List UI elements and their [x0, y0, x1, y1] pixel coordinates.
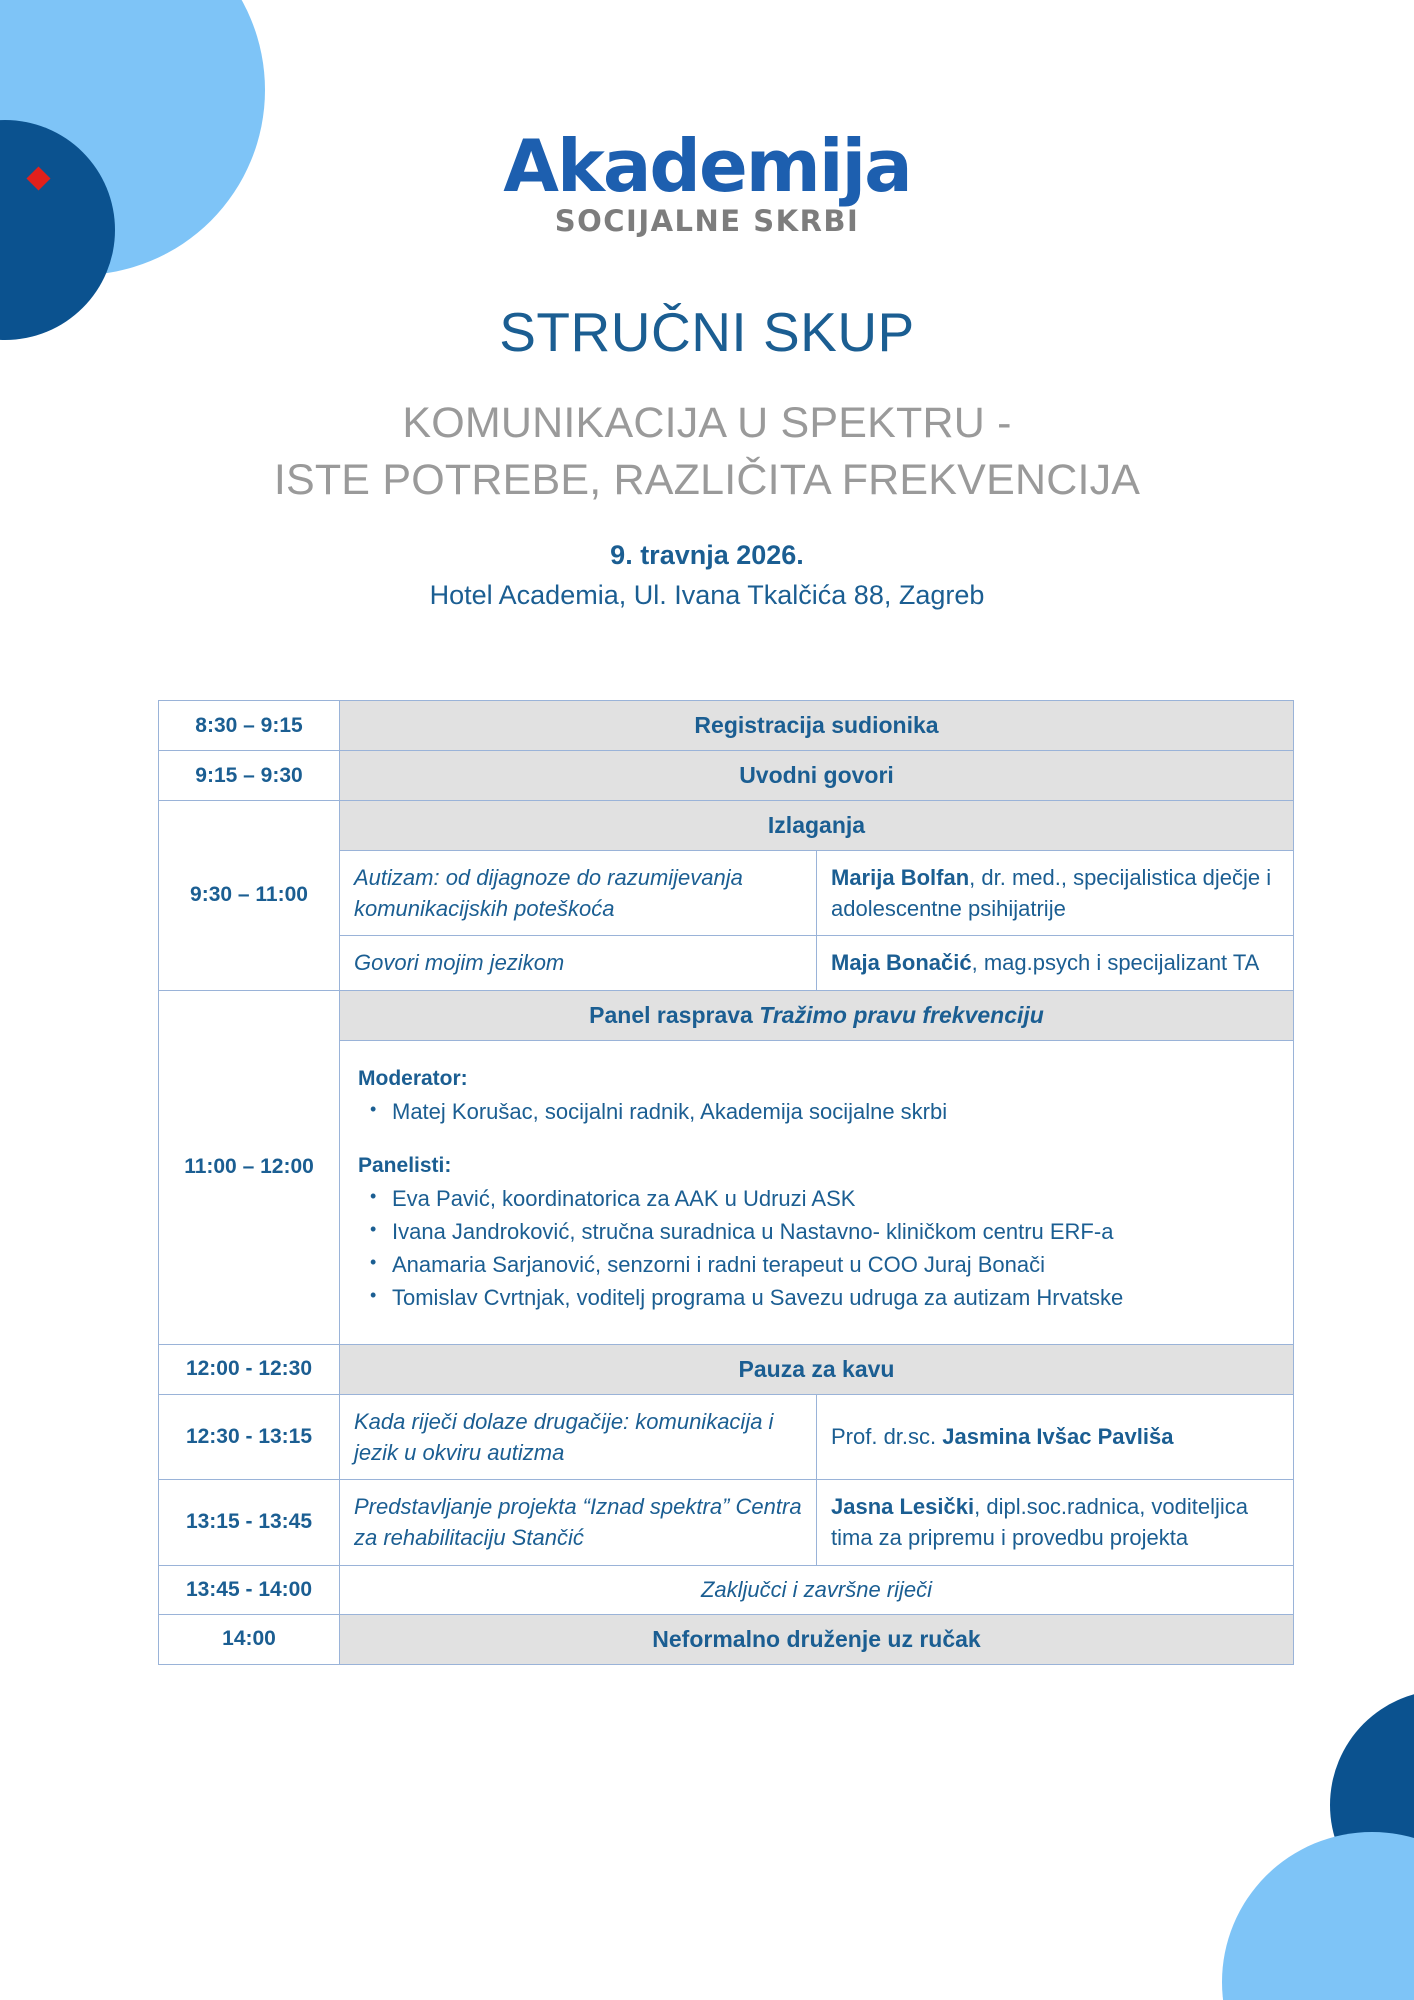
page-subtitle: KOMUNIKACIJA U SPEKTRU - ISTE POTREBE, R… — [0, 395, 1414, 509]
table-row: 9:15 – 9:30 Uvodni govori — [159, 751, 1294, 801]
table-row: 12:00 - 12:30 Pauza za kavu — [159, 1344, 1294, 1394]
agenda-session-title: Pauza za kavu — [340, 1344, 1294, 1394]
decorative-circle-bottom-right-light — [1222, 1832, 1414, 2000]
table-row: 13:15 - 13:45 Predstavljanje projekta “I… — [159, 1480, 1294, 1565]
agenda-session-title: Uvodni govori — [340, 751, 1294, 801]
poster-page: Akademija SOCIJALNE SKRBI STRUČNI SKUP K… — [0, 0, 1414, 2000]
agenda-speaker-credentials: , mag.psych i specijalizant TA — [972, 950, 1260, 975]
agenda-topic: Govori mojim jezikom — [340, 936, 817, 990]
agenda-time: 14:00 — [159, 1614, 340, 1664]
agenda-time: 11:00 – 12:00 — [159, 990, 340, 1344]
agenda-time: 12:00 - 12:30 — [159, 1344, 340, 1394]
table-row: 9:30 – 11:00 Izlaganja — [159, 801, 1294, 851]
page-subtitle-line-2: ISTE POTREBE, RAZLIČITA FREKVENCIJA — [0, 452, 1414, 509]
agenda-session-title: Neformalno druženje uz ručak — [340, 1614, 1294, 1664]
agenda-table: 8:30 – 9:15 Registracija sudionika 9:15 … — [158, 700, 1294, 1665]
agenda-topic: Predstavljanje projekta “Iznad spektra” … — [340, 1480, 817, 1565]
brand-logo: Akademija SOCIJALNE SKRBI — [0, 130, 1414, 236]
event-venue: Hotel Academia, Ul. Ivana Tkalčića 88, Z… — [0, 580, 1414, 611]
agenda-speaker: Maja Bonačić, mag.psych i specijalizant … — [817, 936, 1294, 990]
table-row: 13:45 - 14:00 Zaključci i završne riječi — [159, 1565, 1294, 1614]
agenda-speaker-name: Marija Bolfan — [831, 865, 969, 890]
panelists-list: Eva Pavić, koordinatorica za AAK u Udruz… — [358, 1182, 1275, 1314]
agenda-speaker-name: Jasna Lesički — [831, 1494, 974, 1519]
agenda-speaker-name: Jasmina Ivšac Pavliša — [942, 1424, 1173, 1449]
list-item: Matej Korušac, socijalni radnik, Akademi… — [392, 1095, 1275, 1128]
panelists-label: Panelisti: — [358, 1154, 1275, 1178]
agenda-band-panel: Panel rasprava Tražimo pravu frekvenciju — [340, 990, 1294, 1040]
agenda-session-title: Registracija sudionika — [340, 701, 1294, 751]
table-row: 14:00 Neformalno druženje uz ručak — [159, 1614, 1294, 1664]
table-row: 11:00 – 12:00 Panel rasprava Tražimo pra… — [159, 990, 1294, 1040]
panel-band-title: Tražimo pravu frekvenciju — [759, 1002, 1044, 1028]
page-subtitle-line-1: KOMUNIKACIJA U SPEKTRU - — [0, 395, 1414, 452]
agenda-time: 8:30 – 9:15 — [159, 701, 340, 751]
panel-band-prefix: Panel rasprava — [589, 1002, 759, 1028]
agenda-band-lectures: Izlaganja — [340, 801, 1294, 851]
moderator-label: Moderator: — [358, 1067, 1275, 1091]
agenda-topic: Kada riječi dolaze drugačije: komunikaci… — [340, 1394, 817, 1479]
table-row: 12:30 - 13:15 Kada riječi dolaze drugači… — [159, 1394, 1294, 1479]
agenda-speaker: Prof. dr.sc. Jasmina Ivšac Pavliša — [817, 1394, 1294, 1479]
agenda-speaker-prefix: Prof. dr.sc. — [831, 1424, 942, 1449]
agenda-time: 13:15 - 13:45 — [159, 1480, 340, 1565]
agenda-session-title: Zaključci i završne riječi — [340, 1565, 1294, 1614]
agenda-time: 13:45 - 14:00 — [159, 1565, 340, 1614]
logo-subtitle-text: SOCIJALNE SKRBI — [0, 207, 1414, 236]
logo-wordmark-text: Akademija — [503, 130, 911, 202]
panel-details-cell: Moderator: Matej Korušac, socijalni radn… — [340, 1040, 1294, 1344]
agenda-speaker-name: Maja Bonačić — [831, 950, 972, 975]
red-diamond-icon — [26, 166, 50, 190]
table-row: 8:30 – 9:15 Registracija sudionika — [159, 701, 1294, 751]
agenda-time: 12:30 - 13:15 — [159, 1394, 340, 1479]
agenda-topic: Autizam: od dijagnoze do razumijevanja k… — [340, 851, 817, 936]
list-item: Ivana Jandroković, stručna suradnica u N… — [392, 1215, 1275, 1248]
list-item: Eva Pavić, koordinatorica za AAK u Udruz… — [392, 1182, 1275, 1215]
moderator-list: Matej Korušac, socijalni radnik, Akademi… — [358, 1095, 1275, 1128]
agenda-speaker: Marija Bolfan, dr. med., specijalistica … — [817, 851, 1294, 936]
agenda-time: 9:30 – 11:00 — [159, 801, 340, 991]
page-title: STRUČNI SKUP — [0, 300, 1414, 364]
event-date: 9. travnja 2026. — [0, 540, 1414, 571]
list-item: Tomislav Cvrtnjak, voditelj programa u S… — [392, 1281, 1275, 1314]
agenda-speaker: Jasna Lesički, dipl.soc.radnica, voditel… — [817, 1480, 1294, 1565]
list-item: Anamaria Sarjanović, senzorni i radni te… — [392, 1248, 1275, 1281]
agenda-time: 9:15 – 9:30 — [159, 751, 340, 801]
